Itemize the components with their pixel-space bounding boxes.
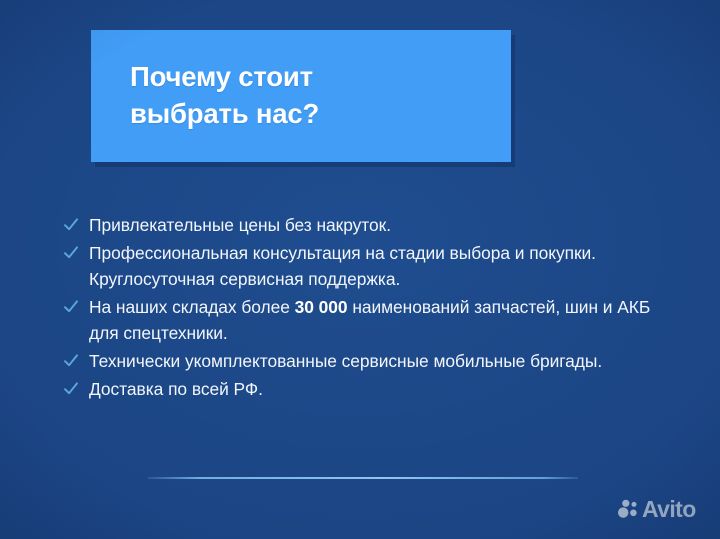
list-item: Доставка по всей РФ. bbox=[63, 376, 663, 403]
list-item: Технически укомплектованные сервисные мо… bbox=[63, 348, 663, 375]
list-item: На наших складах более 30 000 наименован… bbox=[63, 294, 663, 347]
benefits-list: Привлекательные цены без накруток. Профе… bbox=[63, 212, 663, 403]
check-icon bbox=[63, 244, 79, 262]
list-item: Профессиональная консультация на стадии … bbox=[63, 240, 663, 293]
list-item-text: Доставка по всей РФ. bbox=[89, 379, 263, 399]
slide-canvas: Почему стоит выбрать нас? Привлекательны… bbox=[0, 0, 720, 539]
avito-wordmark: Avito bbox=[642, 498, 696, 520]
check-icon bbox=[63, 298, 79, 316]
list-item-text: Технически укомплектованные сервисные мо… bbox=[89, 351, 602, 371]
avito-dots-logo-icon bbox=[617, 498, 639, 520]
list-item-text: Профессиональная консультация на стадии … bbox=[89, 243, 596, 290]
divider bbox=[148, 477, 578, 479]
list-item: Привлекательные цены без накруток. bbox=[63, 212, 663, 239]
check-icon bbox=[63, 216, 79, 234]
page-title: Почему стоит выбрать нас? bbox=[130, 59, 497, 132]
check-icon bbox=[63, 380, 79, 398]
check-icon bbox=[63, 352, 79, 370]
list-item-text: На наших складах более 30 000 наименован… bbox=[89, 297, 650, 344]
title-box: Почему стоит выбрать нас? bbox=[91, 30, 511, 162]
avito-watermark: Avito bbox=[617, 498, 696, 520]
list-item-text: Привлекательные цены без накруток. bbox=[89, 215, 391, 235]
